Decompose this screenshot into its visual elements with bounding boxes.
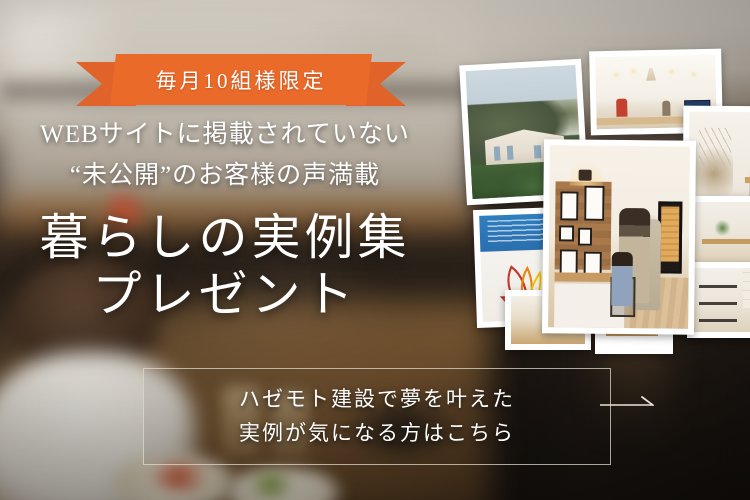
dining-room-photo	[687, 196, 750, 268]
photo-collage	[455, 48, 750, 333]
title-line-2: プレゼント	[0, 267, 450, 324]
promo-banner: 毎月10組様限定 WEBサイトに掲載されていない “未公開”のお客様の声満載 暮…	[0, 0, 750, 500]
limited-offer-ribbon: 毎月10組様限定	[76, 54, 406, 114]
shelving-bottles-photo	[687, 262, 750, 338]
lead-line-2: “未公開”のお客様の声満載	[0, 158, 450, 194]
ribbon-label: 毎月10組様限定	[156, 65, 327, 95]
cta-button[interactable]: ハゼモト建設で夢を叶えた 実例が気になる方はこちら	[143, 368, 611, 465]
cta-line-1: ハゼモト建設で夢を叶えた	[239, 383, 515, 417]
page-title: 暮らしの実例集 プレゼント	[0, 210, 450, 324]
title-line-1: 暮らしの実例集	[39, 210, 410, 265]
ribbon-body: 毎月10組様限定	[110, 54, 372, 105]
lead-line-1: WEBサイトに掲載されていない	[0, 118, 450, 152]
study-nook-family-photo	[542, 139, 696, 335]
arrow-right-icon	[600, 396, 656, 414]
cta-line-2: 実例が気になる方はこちら	[239, 417, 515, 451]
headline-group: WEBサイトに掲載されていない “未公開”のお客様の声満載 暮らしの実例集 プレ…	[0, 118, 450, 324]
